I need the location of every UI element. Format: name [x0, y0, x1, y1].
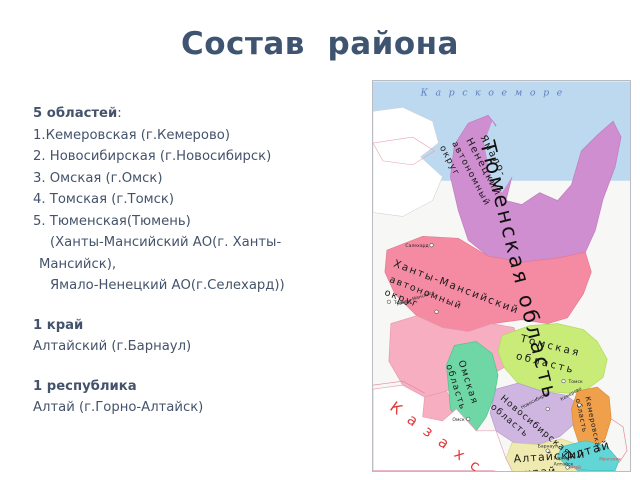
slide-canvas: Состав района 5 областей: 1.Кемеровская …: [0, 0, 640, 480]
content-text-block: 5 областей: 1.Кемеровская (г.Кемерово) 2…: [33, 103, 349, 419]
page-title: Состав района: [0, 26, 640, 62]
city-label: Салехард: [405, 243, 428, 249]
city-marker: [466, 417, 470, 421]
list-item: 5. Тюменская(Тюмень): [33, 211, 349, 233]
city-marker: [546, 407, 550, 411]
region-label-line: край: [524, 464, 557, 471]
city-marker: [435, 310, 439, 314]
section-heading-areas-suffix: :: [117, 106, 121, 121]
city-marker: [578, 403, 582, 407]
city-marker: [562, 379, 566, 383]
list-item: Алтайский (г.Барнаул): [33, 336, 349, 358]
list-item: 4. Томская (г.Томск): [33, 189, 349, 211]
list-item: 2. Новосибирская (г.Новосибирск): [33, 146, 349, 168]
map-image: К а р с к о е м о р е Ямало- Ненецкий ав…: [372, 80, 631, 472]
city-marker: [430, 243, 434, 247]
country-label-mongolia: Монголия: [599, 457, 621, 462]
city-label: Томск: [567, 379, 582, 385]
spacer: [33, 297, 349, 315]
section-heading-krai: 1 край: [33, 315, 349, 337]
city-label: Алтайск: [554, 461, 574, 468]
section-heading-areas: 5 областей:: [33, 103, 349, 125]
section-heading-republic: 1 республика: [33, 376, 349, 398]
city-label: Горно-: [554, 456, 570, 462]
list-item-sub: Мансийск),: [33, 254, 349, 276]
list-item: 3. Омская (г.Омск): [33, 168, 349, 190]
list-item-sub: (Ханты-Мансийский АО(г. Ханты-: [33, 232, 349, 254]
city-marker: [387, 300, 391, 304]
sea-label-kara: К а р с к о е м о р е: [420, 87, 565, 98]
map-svg: К а р с к о е м о р е Ямало- Ненецкий ав…: [373, 81, 630, 471]
spacer: [33, 358, 349, 376]
list-item: Алтай (г.Горно-Алтайск): [33, 397, 349, 419]
city-label: Омск: [452, 417, 465, 423]
list-item-sub: Ямало-Ненецкий АО(г.Селехард)): [33, 275, 349, 297]
city-label: Барнаул: [538, 444, 558, 450]
section-heading-areas-label: 5 областей: [33, 106, 117, 121]
city-label: Тюмень: [393, 300, 413, 306]
list-item: 1.Кемеровская (г.Кемерово): [33, 125, 349, 147]
